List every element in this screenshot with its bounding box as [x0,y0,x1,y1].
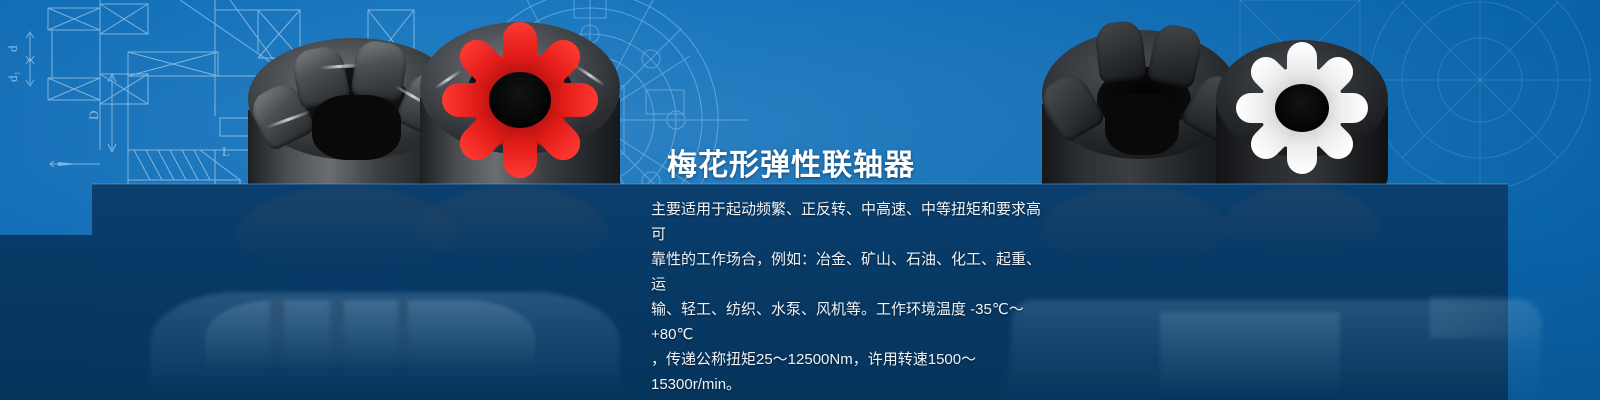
spider-bore [1275,84,1329,132]
description-line: 输、轻工、纺织、水泵、风机等。工作环境温度 -35℃～+80℃ [651,297,1051,347]
description-line: ，传递公称扭矩25～12500Nm，许用转速1500～15300r/min。 [651,347,1051,397]
spider-insert-red [420,28,620,172]
spider-bore [489,72,551,128]
lower-dark-band-left-step [0,235,92,400]
hub-jaw [350,39,408,103]
hub-bore [312,95,401,160]
product-banner: d d₁ D L L L₀ L D₁ [0,0,1600,400]
description-line: 主要适用于起动频繁、正反转、中高速、中等扭矩和要求高可 [651,197,1051,247]
hub-bore [1105,93,1179,156]
description-line: 靠性的工作场合，例如：冶金、矿山、石油、化工、起重、运 [651,247,1051,297]
page-title: 梅花形弹性联轴器 [667,140,915,184]
hub-jaw [1094,20,1147,83]
spider-insert-white [1216,44,1388,171]
product-description: 主要适用于起动频繁、正反转、中高速、中等扭矩和要求高可 靠性的工作场合，例如：冶… [651,197,1051,397]
